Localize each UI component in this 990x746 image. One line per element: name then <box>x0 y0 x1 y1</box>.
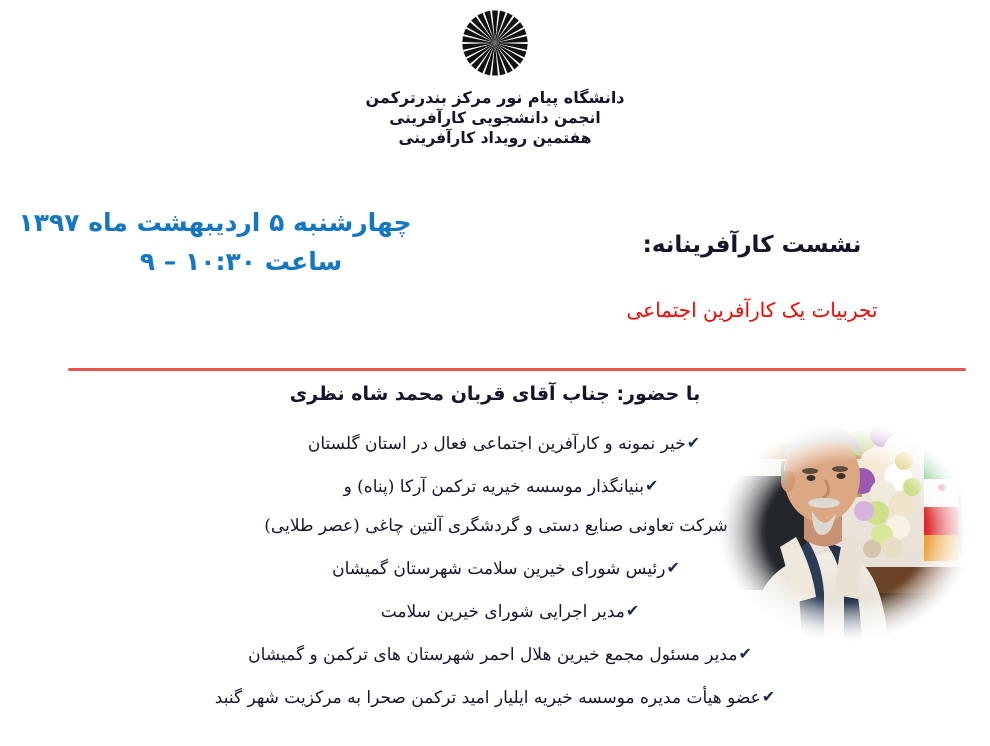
org-name-line-3: هفتمین رویداد کارآفرینی <box>0 128 990 148</box>
horizontal-divider <box>68 368 966 371</box>
checkmark-icon: ✔ <box>762 685 775 708</box>
checkmark-icon: ✔ <box>626 599 639 622</box>
session-subtitle: تجربیات یک کارآفرین اجتماعی <box>542 296 962 324</box>
credential-text: بنیانگذار موسسه خیریه ترکمن آرکا (پناه) … <box>344 477 644 497</box>
speaker-portrait-photo <box>712 415 980 647</box>
credential-text: خیر نمونه و کارآفرین اجتماعی فعال در است… <box>308 434 686 454</box>
credential-text: رئیس شورای خیرین سلامت شهرستان گمیشان <box>332 559 665 579</box>
checkmark-icon: ✔ <box>687 431 700 454</box>
credential-text: مدیر اجرایی شورای خیرین سلامت <box>381 602 625 622</box>
org-name-line-2: انجمن دانشجویی کارآفرینی <box>0 108 990 128</box>
event-date: چهارشنبه ۵ اردیبهشت ماه ۱۳۹۷ <box>0 206 430 240</box>
speaker-name: با حضور: جناب آقای قربان محمد شاه نظری <box>0 383 990 405</box>
sunburst-logo-icon <box>452 6 538 80</box>
credential-text: عضو هیأت مدیره موسسه خیریه ایلیار امید ت… <box>215 688 761 708</box>
credential-text: مدیر مسئول مجمع خیرین هلال احمر شهرستان … <box>248 645 737 665</box>
checkmark-icon: ✔ <box>645 474 658 497</box>
poster-header: دانشگاه پیام نور مرکز بندرترکمن انجمن دا… <box>0 6 990 148</box>
event-datetime: چهارشنبه ۵ اردیبهشت ماه ۱۳۹۷ ساعت ۱۰:۳۰ … <box>0 206 430 279</box>
credential-text: شرکت تعاونی صنایع دستی و گردشگری آلتین چ… <box>264 516 727 536</box>
session-heading-block: نشست کارآفرینانه: تجربیات یک کارآفرین اج… <box>542 230 962 324</box>
session-title: نشست کارآفرینانه: <box>542 230 962 260</box>
checkmark-icon: ✔ <box>666 556 679 579</box>
event-time: ساعت ۱۰:۳۰ – ۹ <box>0 245 430 279</box>
checkmark-icon: ✔ <box>738 642 751 665</box>
credential-item: ✔عضو هیأت مدیره موسسه خیریه ایلیار امید … <box>0 686 990 710</box>
org-name-line-1: دانشگاه پیام نور مرکز بندرترکمن <box>0 88 990 108</box>
